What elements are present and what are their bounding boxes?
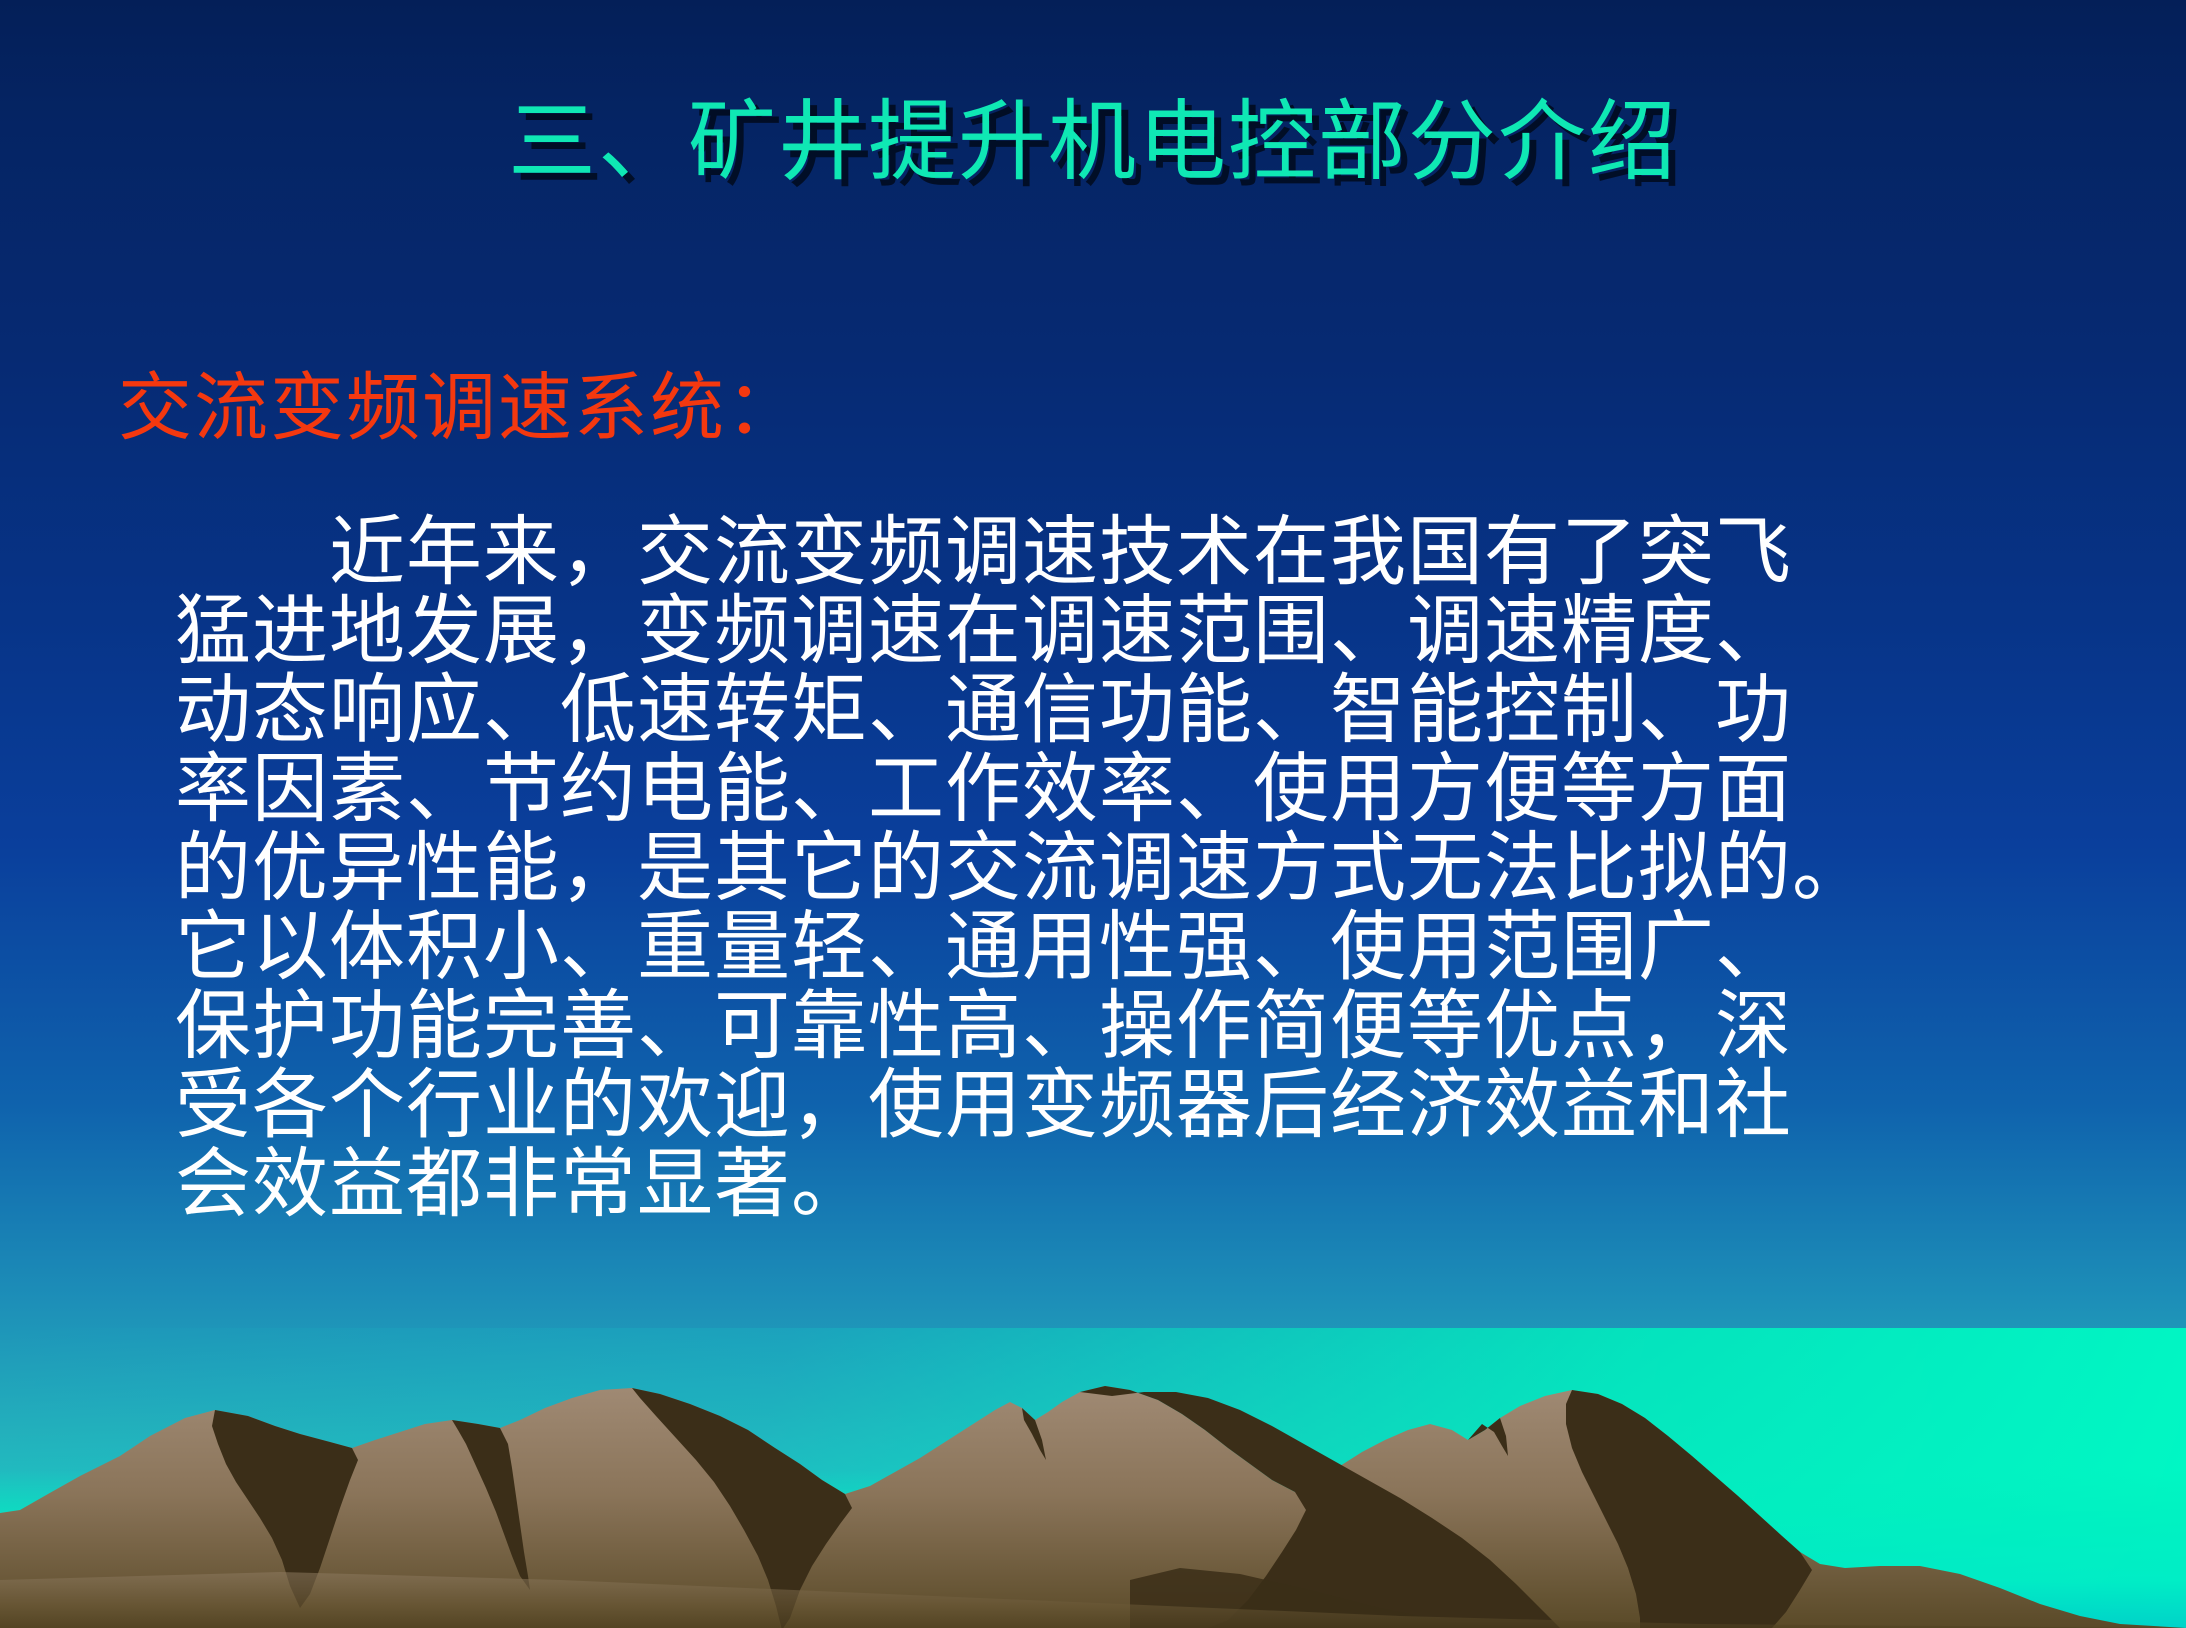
body-line: 率因素、节约电能、工作效率、使用方便等方面 [175,749,2055,828]
body-line: 受各个行业的欢迎，使用变频器后经济效益和社 [175,1065,2055,1144]
body-line: 会效益都非常显著。 [175,1144,2055,1223]
mountain-range-decoration [0,1368,2186,1628]
body-line: 它以体积小、重量轻、通用性强、使用范围广、 [175,907,2055,986]
slide-body-text: 近年来，交流变频调速技术在我国有了突飞 猛进地发展，变频调速在调速范围、调速精度… [175,512,2055,1223]
body-line: 动态响应、低速转矩、通信功能、智能控制、功 [175,670,2055,749]
slide-title: 三、矿井提升机电控部分介绍 [0,96,2186,188]
presentation-slide: 三、矿井提升机电控部分介绍 交流变频调速系统： 近年来，交流变频调速技术在我国有… [0,0,2186,1628]
body-line: 保护功能完善、可靠性高、操作简便等优点，深 [175,986,2055,1065]
body-line: 的优异性能，是其它的交流调速方式无法比拟的。 [175,828,2055,907]
body-line: 近年来，交流变频调速技术在我国有了突飞 [175,512,2055,591]
section-subheading: 交流变频调速系统： [118,368,802,449]
body-line: 猛进地发展，变频调速在调速范围、调速精度、 [175,591,2055,670]
